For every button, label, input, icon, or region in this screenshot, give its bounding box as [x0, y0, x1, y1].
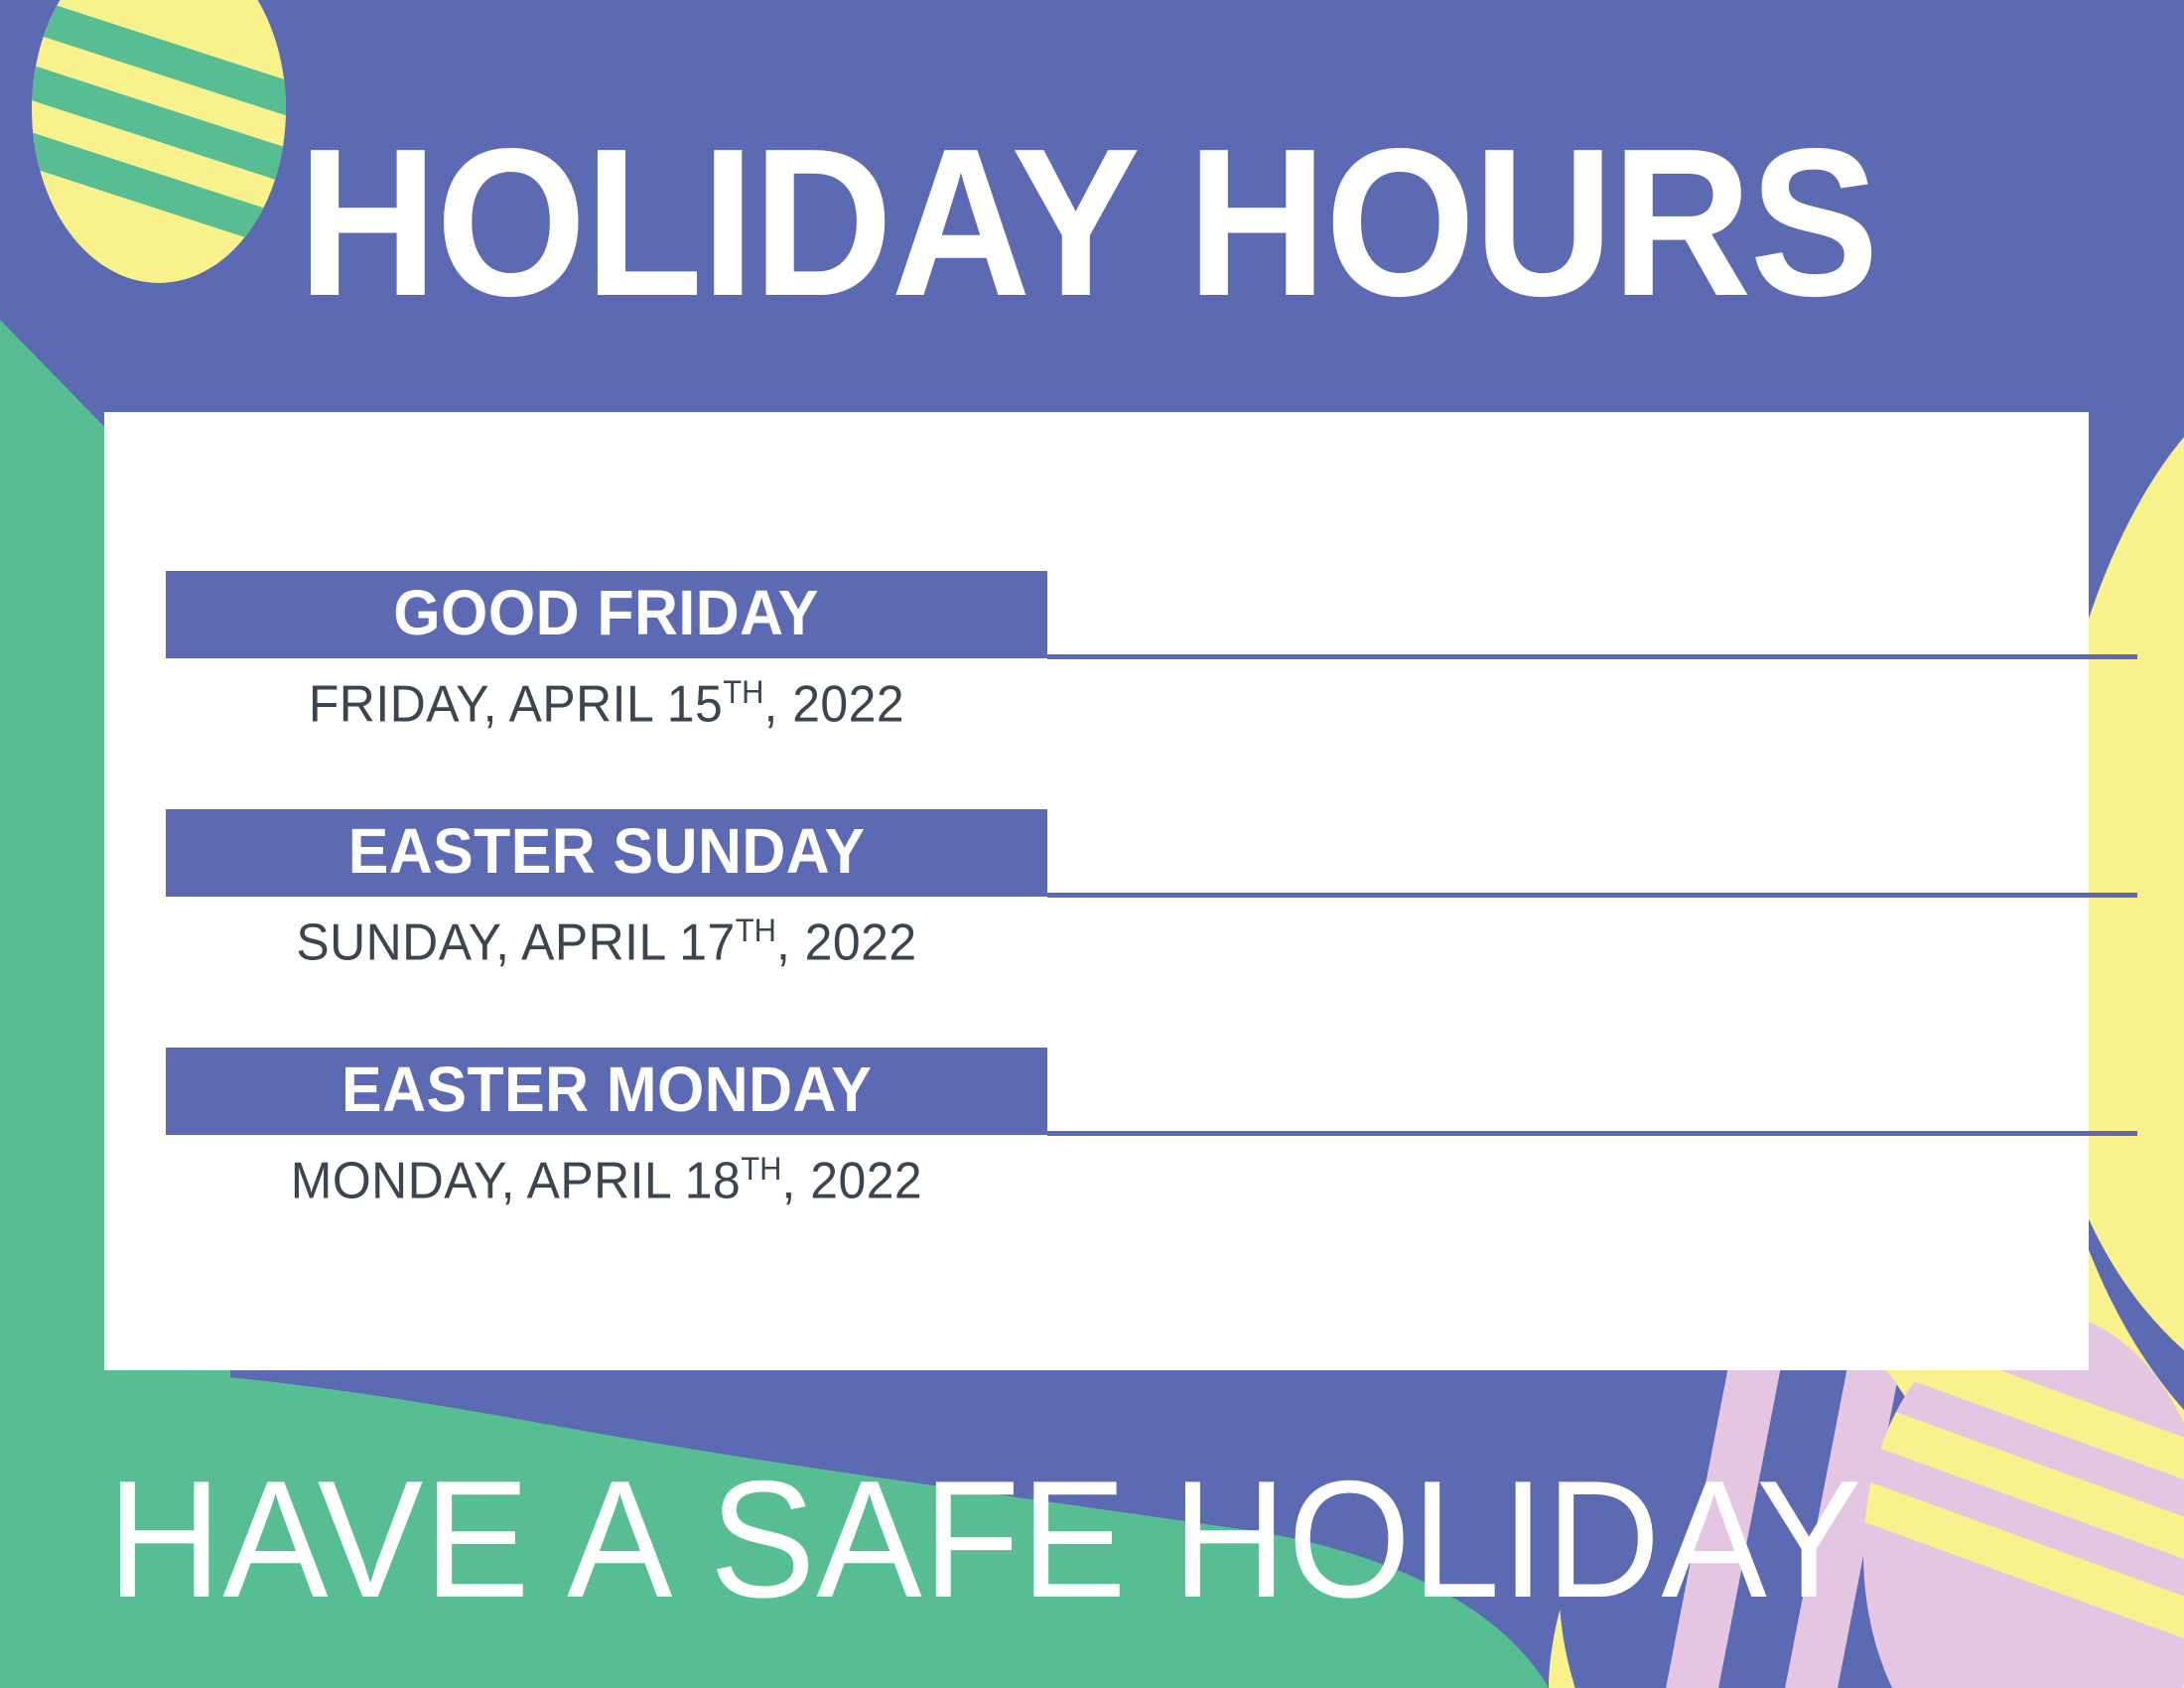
hours-write-in-rule[interactable] [1047, 893, 2137, 898]
holiday-date-ordinal: TH [736, 913, 776, 948]
holiday-date-suffix: , 2022 [763, 675, 904, 733]
page-title: HOLIDAY HOURS [298, 117, 1850, 328]
holiday-name: GOOD FRIDAY [394, 576, 820, 649]
holiday-date-suffix: , 2022 [776, 914, 917, 971]
holiday-date: SUNDAY, APRIL 17TH, 2022 [184, 913, 1029, 972]
holiday-date-ordinal: TH [741, 1151, 781, 1187]
holiday-date-suffix: , 2022 [782, 1152, 923, 1209]
schedule-row: EASTER MONDAY MONDAY, APRIL 18TH, 2022 [166, 1048, 1047, 1210]
hours-write-in-rule[interactable] [1047, 654, 2137, 659]
holiday-name-bar: GOOD FRIDAY [166, 571, 1047, 658]
holiday-date: FRIDAY, APRIL 15TH, 2022 [184, 674, 1029, 734]
hours-write-in-rule[interactable] [1047, 1131, 2137, 1136]
holiday-date-ordinal: TH [723, 674, 763, 710]
footer-message: HAVE A SAFE HOLIDAY [107, 1456, 1862, 1622]
holiday-hours-poster: HOLIDAY HOURS GOOD FRIDAY FRIDAY, APRIL … [0, 0, 2184, 1688]
schedule-card: GOOD FRIDAY FRIDAY, APRIL 15TH, 2022 EAS… [104, 412, 2089, 1370]
holiday-date-prefix: FRIDAY, APRIL 15 [309, 675, 723, 733]
schedule-row: EASTER SUNDAY SUNDAY, APRIL 17TH, 2022 [166, 809, 1047, 972]
holiday-date: MONDAY, APRIL 18TH, 2022 [184, 1151, 1029, 1210]
holiday-name-bar: EASTER MONDAY [166, 1048, 1047, 1135]
holiday-date-prefix: SUNDAY, APRIL 17 [296, 914, 735, 971]
schedule-row: GOOD FRIDAY FRIDAY, APRIL 15TH, 2022 [166, 571, 1047, 734]
holiday-name: EASTER MONDAY [341, 1053, 872, 1126]
holiday-date-prefix: MONDAY, APRIL 18 [291, 1152, 741, 1209]
holiday-name: EASTER SUNDAY [348, 814, 866, 888]
holiday-name-bar: EASTER SUNDAY [166, 809, 1047, 897]
